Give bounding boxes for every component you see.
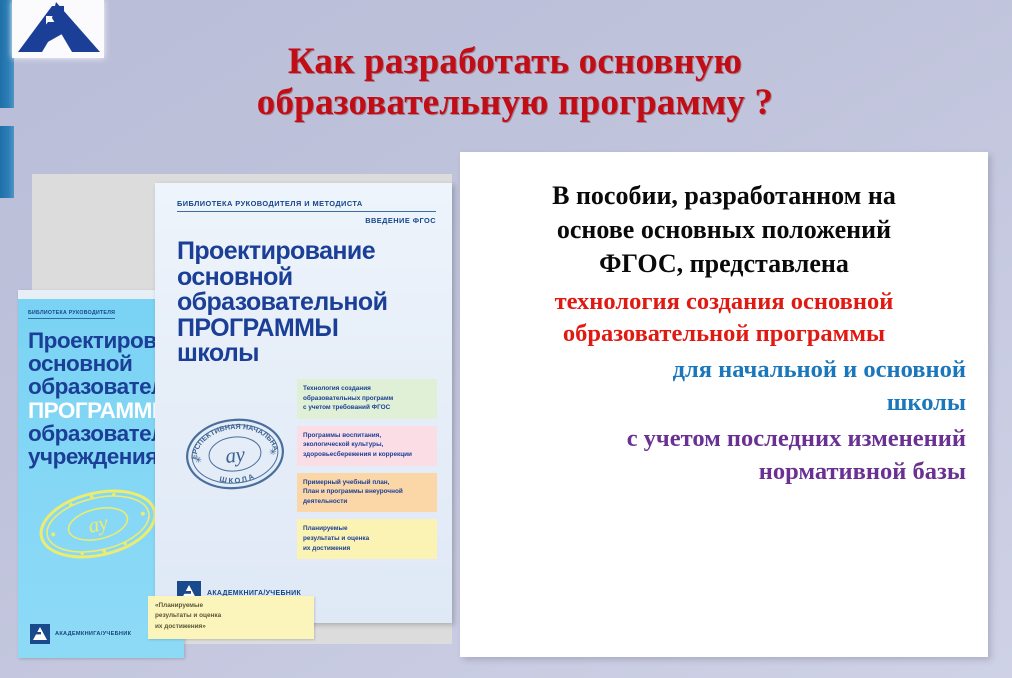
description-panel: В пособии, разработанном на основе основ… [460, 152, 988, 657]
description-line-2: основе основных положений [482, 214, 966, 246]
book-cover-front: БИБЛИОТЕКА РУКОВОДИТЕЛЯ И МЕТОДИСТА ВВЕД… [155, 183, 452, 623]
topic-box-technology: Технология создания образовательных прог… [297, 379, 437, 419]
seal-monogram-front: ау [224, 442, 247, 468]
description-line-1: В пособии, разработанном на [482, 180, 966, 212]
accent-bar-bottom [0, 126, 14, 198]
page-title-line-1: Как разработать основную [288, 41, 742, 82]
slide-canvas: Как разработать основную образовательную… [0, 0, 1012, 678]
book-front-title-line-4: ПРОГРАММЫ [177, 314, 338, 342]
description-line-4: технология создания основной [482, 287, 966, 317]
topic-box-line: Программы воспитания, [303, 431, 431, 441]
book-front-topic-boxes: Технология создания образовательных прог… [297, 379, 437, 566]
round-seal-icon: ПЕРСПЕКТИВНАЯ НАЧАЛЬНАЯ ШКОЛА ау ✳ ✳ [183, 415, 287, 493]
book-back-title-line-6: учреждения [28, 444, 158, 469]
book-back-title-line-2: основной [28, 351, 132, 376]
topic-box-curriculum: Примерный учебный план, План и программы… [297, 473, 437, 513]
topic-box-line: их достижения [303, 544, 431, 554]
publisher-logo-icon [30, 624, 50, 644]
book-front-title-line-1: Проектирование [177, 237, 375, 265]
book-front-series-label: БИБЛИОТЕКА РУКОВОДИТЕЛЯ И МЕТОДИСТА [177, 199, 436, 208]
seal-monogram: ау [86, 510, 111, 538]
topic-box-line: здоровьесбережения и коррекции [303, 450, 431, 460]
book-back-publisher-name: АКАДЕМКНИГА/УЧЕБНИК [55, 631, 131, 637]
header-rule [177, 211, 436, 212]
book-back-title-line-4: ПРОГРАММЫ [28, 398, 173, 423]
topic-box-line: План и программы внеурочной [303, 487, 431, 497]
oval-seal-icon: ау [36, 485, 160, 563]
book-back-publisher: АКАДЕМКНИГА/УЧЕБНИК [30, 624, 131, 644]
description-line-5: образовательной программы [482, 319, 966, 349]
book-front-fgos-label: ВВЕДЕНИЕ ФГОС [177, 216, 436, 225]
topic-box-line: деятельности [303, 497, 431, 507]
topic-box-line: экологической культуры, [303, 440, 431, 450]
book-front-title: Проектирование основной образовательной … [177, 239, 452, 367]
topic-box-line: с учетом требований ФГОС [303, 403, 431, 413]
page-title: Как разработать основную образовательную… [150, 41, 880, 124]
letter-a-logo-icon [12, 0, 104, 58]
topic-box-line: Примерный учебный план, [303, 478, 431, 488]
sticky-note-line: их достижения» [155, 622, 307, 632]
topic-box-line: результаты и оценка [303, 534, 431, 544]
topic-box-results: Планируемые результаты и оценка их дости… [297, 519, 437, 559]
book-front-seal: ПЕРСПЕКТИВНАЯ НАЧАЛЬНАЯ ШКОЛА ау ✳ ✳ [183, 415, 287, 498]
topic-box-line: Технология создания [303, 384, 431, 394]
corner-logo [12, 0, 104, 58]
description-line-3: ФГОС, представлена [482, 248, 966, 280]
sticky-note: «Планируемые результаты и оценка их дост… [148, 596, 314, 639]
book-front-title-line-5: школы [177, 339, 259, 367]
book-front-title-line-2: основной [177, 263, 293, 291]
sticky-note-line: «Планируемые [155, 601, 307, 611]
topic-box-line: образовательных программ [303, 394, 431, 404]
description-line-8: с учетом последних изменений [482, 424, 966, 454]
page-title-line-2: образовательную программу ? [257, 82, 773, 123]
book-front-header: БИБЛИОТЕКА РУКОВОДИТЕЛЯ И МЕТОДИСТА ВВЕД… [177, 199, 436, 225]
description-line-7: школы [482, 388, 966, 418]
description-line-6: для начальной и основной [482, 355, 966, 385]
book-front-title-line-3: образовательной [177, 288, 387, 316]
sticky-note-line: результаты и оценка [155, 611, 307, 621]
description-line-9: нормативной базы [482, 457, 966, 487]
topic-box-line: Планируемые [303, 524, 431, 534]
topic-box-programs: Программы воспитания, экологической куль… [297, 426, 437, 466]
svg-text:✳: ✳ [269, 447, 278, 458]
book-back-seal: ау [36, 485, 160, 568]
book-back-series-label: БИБЛИОТЕКА РУКОВОДИТЕЛЯ [28, 310, 115, 319]
svg-text:✳: ✳ [194, 454, 203, 465]
